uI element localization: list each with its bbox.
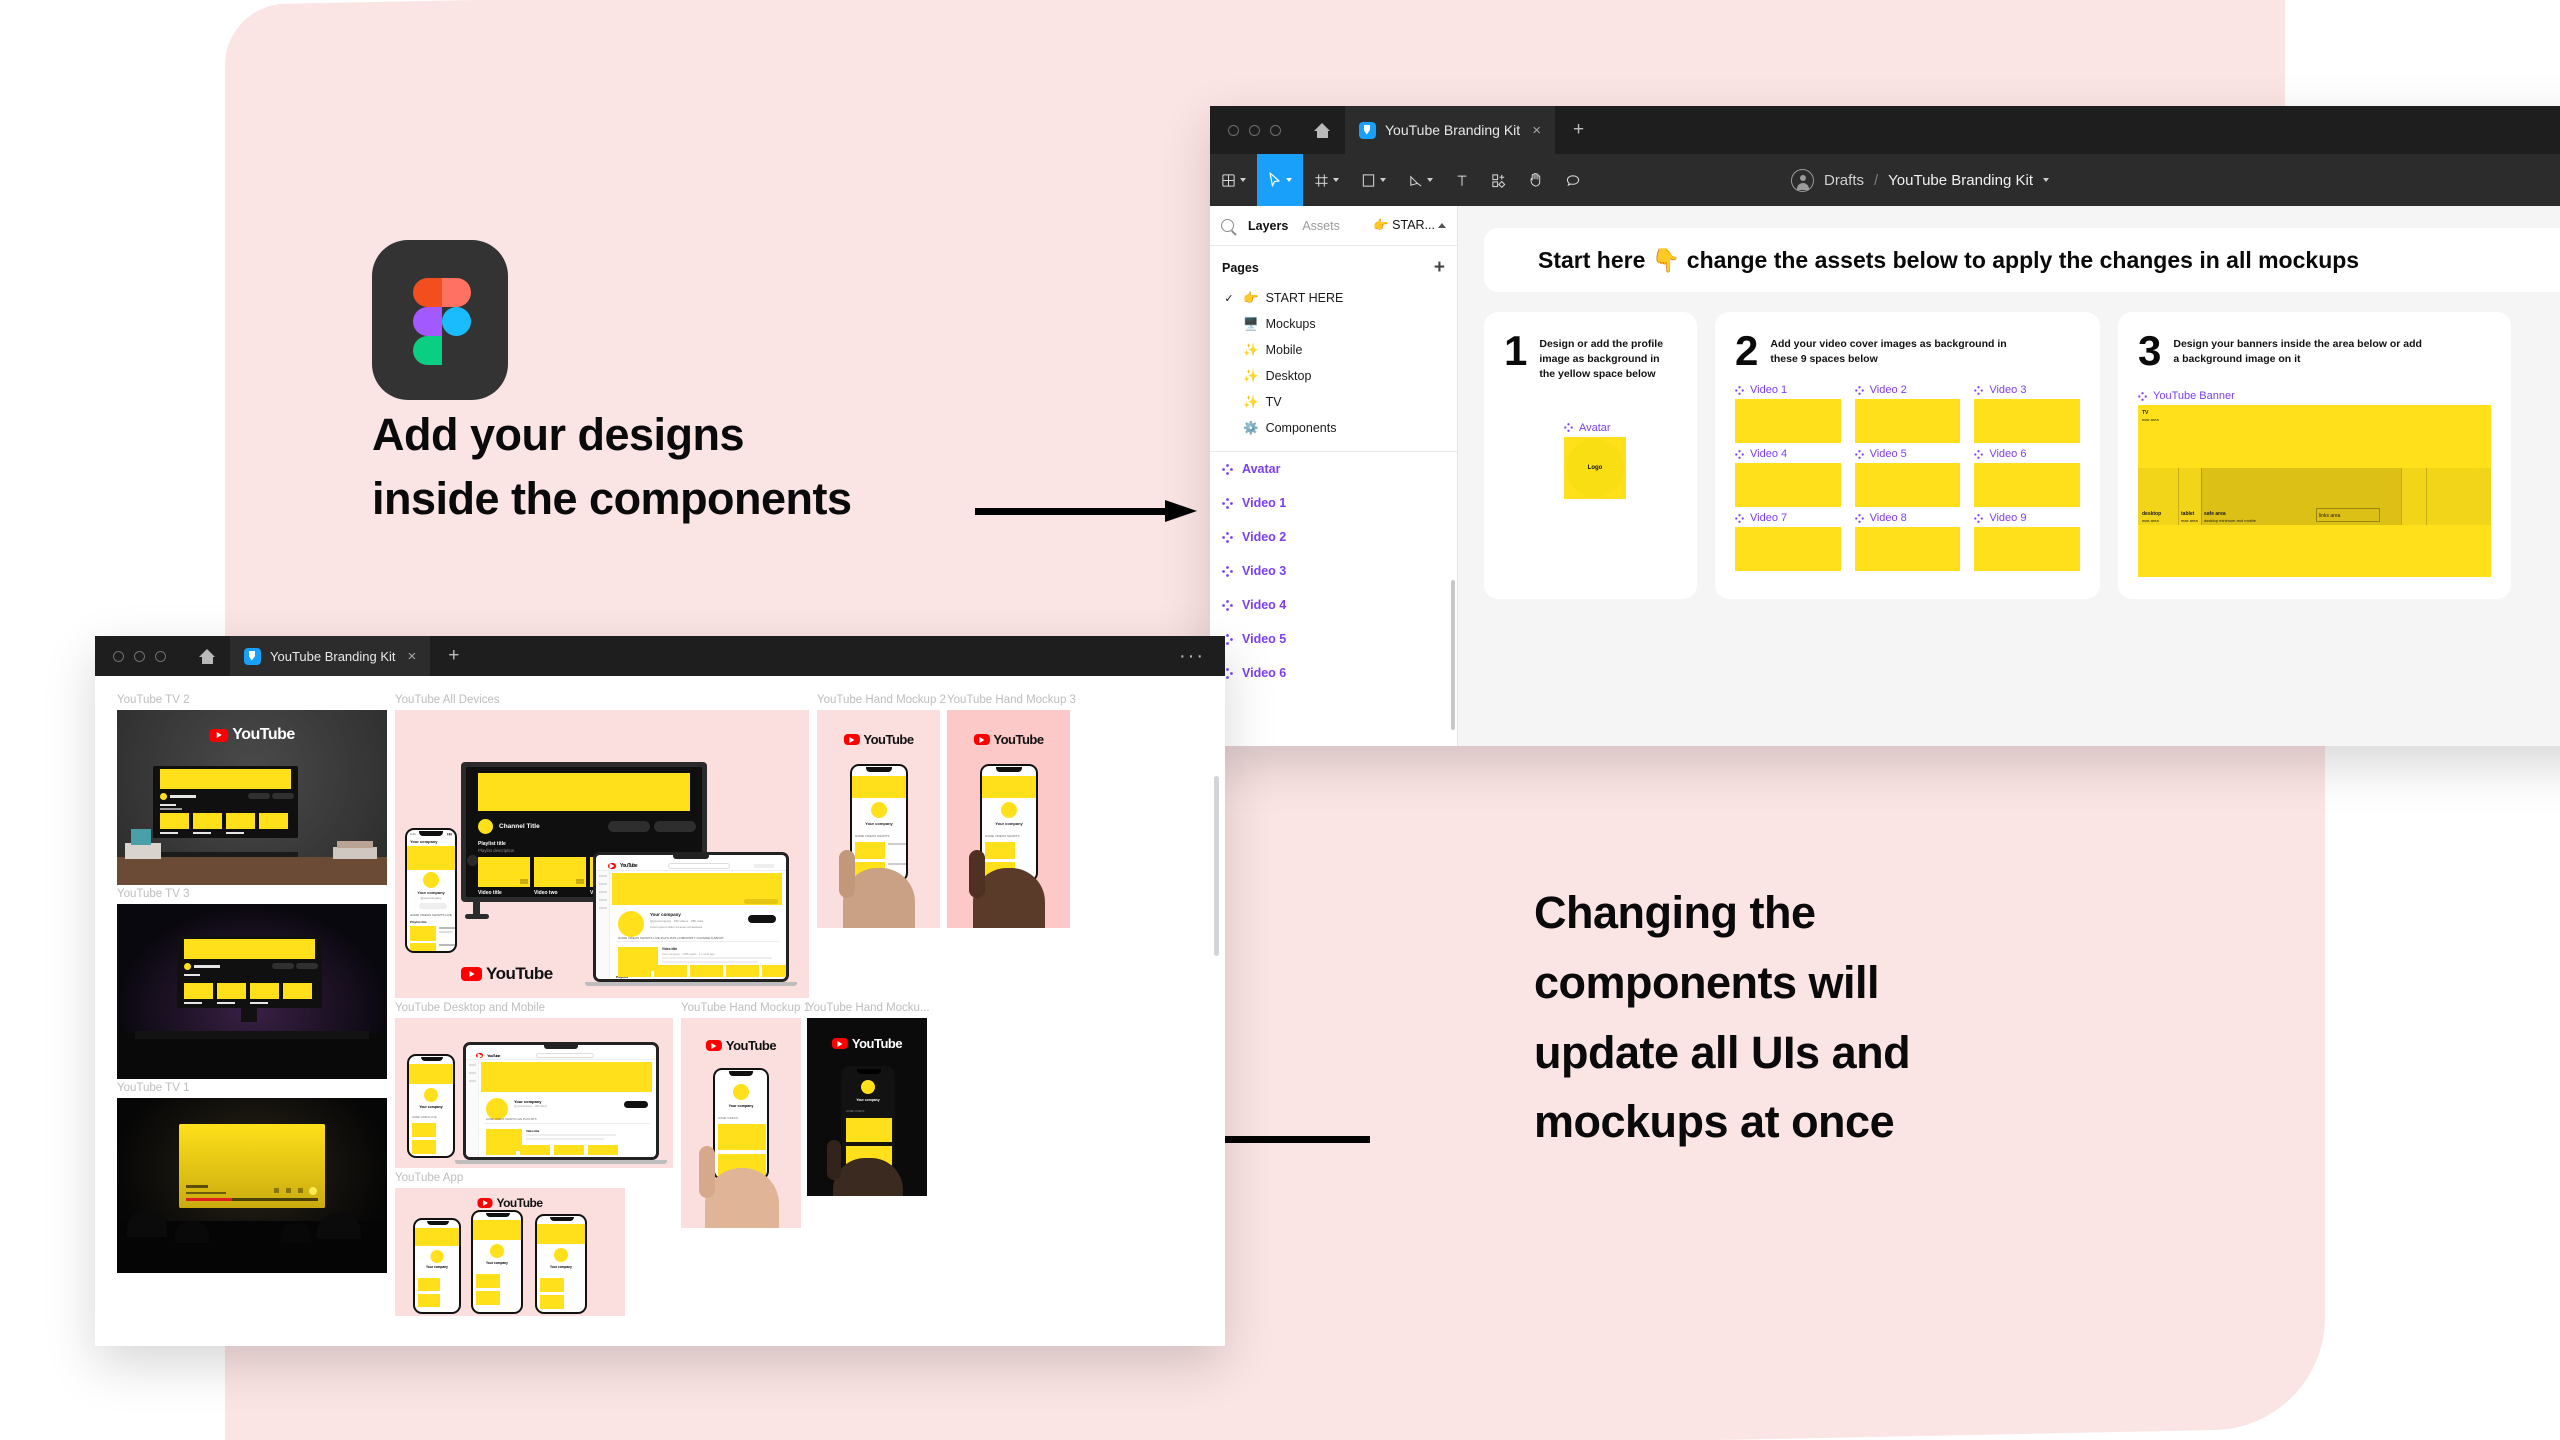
region-sub: max area bbox=[2142, 417, 2159, 422]
card-step-2: 2 Add your video cover images as backgro… bbox=[1715, 312, 2100, 599]
chevron-down-icon bbox=[1427, 178, 1433, 182]
frame-label-youtube-desktop-and-mobile: YouTube Desktop and Mobile bbox=[395, 1002, 545, 1014]
youtube-play-icon bbox=[832, 1038, 848, 1049]
banner-guide bbox=[2426, 468, 2427, 525]
banner-guide bbox=[2178, 468, 2179, 525]
page-label: TV bbox=[1266, 395, 1282, 409]
component-icon bbox=[1564, 423, 1573, 432]
video-label-text: Video 6 bbox=[1989, 448, 2026, 460]
mockups-window: YouTube Branding Kit × + ··· YouTube TV … bbox=[95, 636, 1225, 1346]
layer-label: Avatar bbox=[1242, 462, 1280, 476]
region-sub: max area bbox=[2181, 518, 2198, 523]
headline-right-line-1: Changing the bbox=[1534, 878, 2054, 948]
pages-title: Pages bbox=[1222, 261, 1259, 275]
frame-label-youtube-all-devices: YouTube All Devices bbox=[395, 694, 500, 706]
banner-label-text: YouTube Banner bbox=[2153, 390, 2235, 402]
youtube-word: YouTube bbox=[726, 1038, 776, 1053]
youtube-word: YouTube bbox=[852, 1036, 902, 1051]
component-icon bbox=[1735, 514, 1744, 523]
layer-label: Video 3 bbox=[1242, 564, 1286, 578]
tv-video-title-2: Video two bbox=[534, 890, 558, 896]
youtube-play-icon bbox=[706, 1040, 722, 1051]
youtube-wordmark: YouTube bbox=[973, 732, 1043, 747]
page-item-mobile[interactable]: ✨ Mobile bbox=[1210, 337, 1457, 363]
video-label-text: Video 3 bbox=[1989, 384, 2026, 396]
component-icon bbox=[1974, 514, 1983, 523]
region-title: safe area bbox=[2204, 511, 2226, 517]
component-icon bbox=[1735, 450, 1744, 459]
page-emoji: 🖥️ bbox=[1243, 317, 1259, 332]
close-tab-icon[interactable]: × bbox=[408, 649, 417, 664]
desktop-channel-name: Your company bbox=[650, 912, 681, 917]
components-icon bbox=[1491, 173, 1506, 188]
window-controls[interactable] bbox=[95, 636, 184, 676]
youtube-word: YouTube bbox=[993, 732, 1043, 747]
figma-body: Layers Assets 👉 STAR... Pages + ✓ 👉 bbox=[1210, 206, 2560, 746]
youtube-word: YouTube bbox=[486, 964, 553, 984]
new-tab-button[interactable]: + bbox=[430, 636, 477, 676]
youtube-wordmark-small: YouTube bbox=[608, 863, 637, 869]
video-label: Video 2 bbox=[1855, 384, 1961, 396]
frame-youtube-tv-2[interactable]: YouTube bbox=[117, 710, 387, 885]
frame-youtube-all-devices[interactable]: Channel Title Playlist title Playlist de… bbox=[395, 710, 809, 998]
window-controls[interactable] bbox=[1210, 106, 1299, 154]
youtube-banner-placeholder[interactable]: TV max area desktop max area tablet max … bbox=[2138, 405, 2491, 577]
video-slots-grid: Video 1 Video 2 bbox=[1735, 384, 2080, 571]
text-tool-button[interactable] bbox=[1444, 154, 1480, 206]
page-item-desktop[interactable]: ✨ Desktop bbox=[1210, 363, 1457, 389]
layers-list[interactable]: Avatar Video 1 Video 2 Video 3 bbox=[1210, 452, 1457, 746]
video-label: Video 8 bbox=[1855, 512, 1961, 524]
video-placeholder[interactable] bbox=[1735, 399, 1841, 443]
youtube-word: YouTube bbox=[863, 732, 913, 747]
tv-screen bbox=[153, 766, 298, 838]
close-window-button[interactable] bbox=[1228, 125, 1239, 136]
tab-assets[interactable]: Assets bbox=[1302, 219, 1340, 233]
video-placeholder[interactable] bbox=[1855, 527, 1961, 571]
headline-right-line-3: update all UIs and bbox=[1534, 1018, 2054, 1088]
layer-label: Video 1 bbox=[1242, 496, 1286, 510]
headline-left: Add your designs inside the components bbox=[372, 412, 992, 540]
youtube-word: YouTube bbox=[496, 1196, 542, 1210]
component-icon bbox=[1222, 532, 1233, 543]
video-label-text: Video 5 bbox=[1870, 448, 1907, 460]
page-label: Desktop bbox=[1266, 369, 1312, 383]
shape-tool-button[interactable] bbox=[1350, 154, 1397, 206]
video-placeholder[interactable] bbox=[1735, 527, 1841, 571]
phone-mockup: 9:41 ▮▮▮ Your company Your company @your… bbox=[405, 828, 457, 953]
current-page-label: 👉 STAR... bbox=[1373, 218, 1435, 233]
video-slot-1[interactable]: Video 1 bbox=[1735, 384, 1841, 443]
component-icon bbox=[1222, 566, 1233, 577]
chevron-down-icon[interactable] bbox=[2043, 178, 2049, 182]
component-icon bbox=[1974, 386, 1983, 395]
video-slot-7[interactable]: Video 7 bbox=[1735, 512, 1841, 571]
comment-icon bbox=[1565, 173, 1581, 188]
frame-icon bbox=[1314, 173, 1329, 188]
tab-layers[interactable]: Layers bbox=[1248, 219, 1288, 233]
mockups-canvas[interactable]: YouTube TV 2 YouTube bbox=[95, 676, 1225, 1346]
avatar[interactable] bbox=[1791, 169, 1814, 192]
move-tool-button[interactable] bbox=[1257, 154, 1303, 206]
region-title: desktop bbox=[2142, 511, 2161, 517]
video-slot-9[interactable]: Video 9 bbox=[1974, 512, 2080, 571]
figma-window: YouTube Branding Kit × + bbox=[1210, 106, 2560, 746]
card-description: Add your video cover images as backgroun… bbox=[1770, 334, 2025, 367]
headline-right-line-4: mockups at once bbox=[1534, 1087, 2054, 1157]
browser-tab[interactable]: YouTube Branding Kit × bbox=[1345, 106, 1555, 154]
figma-logo-icon bbox=[372, 240, 508, 400]
figma-toolbar: Drafts / YouTube Branding Kit bbox=[1210, 154, 2560, 206]
frame-label-youtube-tv-2: YouTube TV 2 bbox=[117, 694, 189, 706]
tab-label: YouTube Branding Kit bbox=[270, 649, 396, 664]
frame-youtube-hand-mockup-2[interactable]: YouTube Your company HOME VIDEOS SHORTS bbox=[817, 710, 940, 928]
phone-mockup: Your company bbox=[413, 1218, 461, 1314]
close-tab-icon[interactable]: × bbox=[1532, 123, 1541, 138]
card-step-1: 1 Design or add the profile image as bac… bbox=[1484, 312, 1697, 599]
figma-canvas[interactable]: Start here 👇 change the assets below to … bbox=[1458, 206, 2560, 746]
page-label: Components bbox=[1266, 421, 1337, 435]
card-description: Design your banners inside the area belo… bbox=[2173, 334, 2423, 367]
avatar-label-text: Avatar bbox=[1579, 422, 1611, 434]
figma-menu-icon bbox=[1221, 173, 1236, 188]
figma-titlebar: YouTube Branding Kit × + bbox=[1210, 106, 2560, 154]
card-description: Design or add the profile image as backg… bbox=[1539, 334, 1677, 382]
mockups-titlebar: YouTube Branding Kit × + ··· bbox=[95, 636, 1225, 676]
card-step-3: 3 Design your banners inside the area be… bbox=[2118, 312, 2511, 599]
headline-left-line-2: inside the components bbox=[372, 476, 992, 522]
frame-youtube-hand-mockup-1[interactable]: YouTube Your company HOME VIDEOS bbox=[681, 1018, 801, 1228]
banner-guide bbox=[2401, 468, 2402, 525]
page-item-components[interactable]: ⚙️ Components bbox=[1210, 415, 1457, 441]
video-slot-2[interactable]: Video 2 bbox=[1855, 384, 1961, 443]
instruction-cards: 1 Design or add the profile image as bac… bbox=[1484, 312, 2560, 599]
headline-left-line-1: Add your designs bbox=[372, 412, 992, 458]
phone-mockup: Your company bbox=[535, 1214, 587, 1314]
headline-right-line-2: components will bbox=[1534, 948, 2054, 1018]
layer-label: Video 2 bbox=[1242, 530, 1286, 544]
youtube-play-icon bbox=[973, 734, 989, 745]
avatar-component-label: Avatar bbox=[1564, 422, 1626, 434]
frame-tool-button[interactable] bbox=[1303, 154, 1350, 206]
search-icon[interactable] bbox=[1221, 219, 1234, 232]
frame-youtube-hand-mockup-4[interactable]: YouTube Your company HOME VIDEOS bbox=[807, 1018, 927, 1196]
hand-tool-button[interactable] bbox=[1517, 154, 1554, 206]
card-header: 1 Design or add the profile image as bac… bbox=[1504, 334, 1677, 382]
breadcrumb-file[interactable]: YouTube Branding Kit bbox=[1888, 172, 2033, 189]
video-label-text: Video 7 bbox=[1750, 512, 1787, 524]
home-icon bbox=[1314, 123, 1331, 138]
video-label: Video 5 bbox=[1855, 448, 1961, 460]
video-placeholder[interactable] bbox=[1735, 463, 1841, 507]
youtube-wordmark: YouTube bbox=[461, 964, 553, 984]
page-emoji: ✨ bbox=[1243, 369, 1259, 384]
youtube-play-icon bbox=[477, 1198, 492, 1208]
minimize-window-button[interactable] bbox=[1249, 125, 1260, 136]
page-emoji: ⚙️ bbox=[1243, 421, 1259, 436]
component-icon bbox=[1855, 386, 1864, 395]
banner-region-tablet: tablet max area bbox=[2181, 511, 2198, 522]
avatar-component-slot[interactable]: Avatar Logo bbox=[1504, 422, 1677, 499]
page-label: Mobile bbox=[1266, 343, 1303, 357]
breadcrumb: Drafts / YouTube Branding Kit bbox=[1791, 169, 2049, 192]
video-label-text: Video 8 bbox=[1870, 512, 1907, 524]
video-slot-4[interactable]: Video 4 bbox=[1735, 448, 1841, 507]
component-icon bbox=[2138, 392, 2147, 401]
card-number: 3 bbox=[2138, 334, 2161, 368]
avatar-logo-text: Logo bbox=[1588, 465, 1603, 471]
youtube-wordmark: YouTube bbox=[209, 726, 295, 744]
tv-playlist-desc: Playlist description bbox=[478, 848, 514, 853]
video-label: Video 9 bbox=[1974, 512, 2080, 524]
video-label: Video 6 bbox=[1974, 448, 2080, 460]
tab-label: YouTube Branding Kit bbox=[1385, 122, 1520, 138]
page-item-tv[interactable]: ✨ TV bbox=[1210, 389, 1457, 415]
phone-mockup: Your company HOME VIDEOS bbox=[841, 1066, 895, 1170]
home-button[interactable] bbox=[1299, 106, 1345, 154]
region-sub: desktop minimum and mobile bbox=[2204, 518, 2256, 523]
start-here-banner: Start here 👇 change the assets below to … bbox=[1484, 228, 2560, 292]
video-slot-5[interactable]: Video 5 bbox=[1855, 448, 1961, 507]
add-page-button[interactable]: + bbox=[1434, 258, 1445, 277]
browser-tab[interactable]: YouTube Branding Kit × bbox=[230, 636, 430, 676]
video-placeholder[interactable] bbox=[1974, 399, 2080, 443]
video-label-text: Video 4 bbox=[1750, 448, 1787, 460]
frame-label-youtube-hand-mockup-2: YouTube Hand Mockup 2 bbox=[817, 694, 946, 706]
card-number: 2 bbox=[1735, 334, 1758, 368]
frame-youtube-desktop-and-mobile[interactable]: Your company HOME VIDEOS LIVE YouTube bbox=[395, 1018, 673, 1168]
region-title: links area bbox=[2319, 513, 2340, 519]
comment-tool-button[interactable] bbox=[1554, 154, 1592, 206]
page-item-mockups[interactable]: 🖥️ Mockups bbox=[1210, 311, 1457, 337]
tv-video-title-1: Video title bbox=[478, 890, 502, 896]
phone-mockup: Your company HOME VIDEOS bbox=[713, 1068, 769, 1180]
rectangle-icon bbox=[1361, 173, 1376, 188]
frame-label-youtube-hand-mockup-3: YouTube Hand Mockup 3 bbox=[947, 694, 1076, 706]
video-placeholder[interactable] bbox=[1855, 463, 1961, 507]
video-label: Video 7 bbox=[1735, 512, 1841, 524]
banner-region-desktop: desktop max area bbox=[2142, 511, 2161, 522]
banner-guide bbox=[2201, 468, 2202, 525]
component-icon bbox=[1855, 450, 1864, 459]
phone-mockup: Your company HOME VIDEOS SHORTS bbox=[850, 764, 908, 882]
pages-list: ✓ 👉 START HERE 🖥️ Mockups ✨ Mobile bbox=[1210, 285, 1457, 441]
card-header: 2 Add your video cover images as backgro… bbox=[1735, 334, 2080, 368]
frame-youtube-tv-3[interactable] bbox=[117, 904, 387, 1079]
card-header: 3 Design your banners inside the area be… bbox=[2138, 334, 2491, 368]
layer-label: Video 5 bbox=[1242, 632, 1286, 646]
component-icon bbox=[1974, 450, 1983, 459]
video-label: Video 3 bbox=[1974, 384, 2080, 396]
video-label-text: Video 9 bbox=[1989, 512, 2026, 524]
pages-header: Pages + bbox=[1210, 246, 1457, 285]
youtube-play-icon bbox=[843, 734, 859, 745]
tv-playlist-title: Playlist title bbox=[478, 841, 506, 847]
laptop-mockup: YouTube Your company @yourcompany · 180 … bbox=[463, 1042, 659, 1160]
layer-item-video-2[interactable]: Video 2 bbox=[1210, 520, 1457, 554]
new-tab-button[interactable]: + bbox=[1555, 106, 1602, 154]
breadcrumb-project[interactable]: Drafts bbox=[1824, 172, 1864, 189]
youtube-play-icon bbox=[209, 729, 228, 742]
close-window-button[interactable] bbox=[113, 651, 124, 662]
figma-favicon-icon bbox=[1359, 122, 1376, 139]
page-label: START HERE bbox=[1266, 291, 1344, 305]
screenshot-stage: Add your designs inside the components C… bbox=[0, 0, 2560, 1440]
arrow-right-icon bbox=[975, 500, 1205, 522]
frame-label-youtube-app: YouTube App bbox=[395, 1172, 463, 1184]
banner-component-label: YouTube Banner bbox=[2138, 390, 2491, 402]
youtube-wordmark: YouTube bbox=[706, 1038, 776, 1053]
overflow-menu-button[interactable]: ··· bbox=[1159, 636, 1225, 676]
frame-label-youtube-tv-1: YouTube TV 1 bbox=[117, 1082, 189, 1094]
pen-tool-button[interactable] bbox=[1397, 154, 1444, 206]
pen-icon bbox=[1408, 173, 1423, 188]
video-placeholder[interactable] bbox=[1974, 463, 2080, 507]
avatar-placeholder[interactable]: Logo bbox=[1564, 437, 1626, 499]
region-sub: max area bbox=[2142, 518, 2161, 523]
component-icon bbox=[1855, 514, 1864, 523]
banner-region-links: links area bbox=[2319, 513, 2340, 519]
check-icon: ✓ bbox=[1222, 292, 1236, 305]
minimize-window-button[interactable] bbox=[134, 651, 145, 662]
banner-region-tv: TV max area bbox=[2142, 410, 2159, 421]
video-slot-6[interactable]: Video 6 bbox=[1974, 448, 2080, 507]
youtube-wordmark: YouTube bbox=[832, 1036, 902, 1051]
layer-item-video-4[interactable]: Video 4 bbox=[1210, 588, 1457, 622]
layers-panel-tabs: Layers Assets 👉 STAR... bbox=[1210, 206, 1457, 246]
home-button[interactable] bbox=[184, 636, 230, 676]
frame-youtube-hand-mockup-3[interactable]: YouTube Your company HOME VIDEOS SHORTS bbox=[947, 710, 1070, 928]
youtube-wordmark: YouTube bbox=[843, 732, 913, 747]
chevron-down-icon bbox=[1380, 178, 1386, 182]
component-icon bbox=[1222, 498, 1233, 509]
youtube-wordmark: YouTube bbox=[477, 1196, 542, 1210]
phone-mockup: Your company bbox=[471, 1210, 523, 1314]
component-icon bbox=[1222, 464, 1233, 475]
layer-item-avatar[interactable]: Avatar bbox=[1210, 452, 1457, 486]
banner-region-safe: safe area desktop minimum and mobile bbox=[2204, 511, 2256, 522]
youtube-word: YouTube bbox=[232, 726, 295, 744]
chevron-up-icon bbox=[1438, 223, 1446, 228]
frame-youtube-tv-1[interactable] bbox=[117, 1098, 387, 1273]
start-here-text: Start here 👇 change the assets below to … bbox=[1538, 247, 2359, 274]
video-placeholder[interactable] bbox=[1974, 527, 2080, 571]
laptop-mockup: YouTube Your company bbox=[593, 852, 789, 982]
youtube-play-icon bbox=[461, 967, 482, 981]
layer-item-video-3[interactable]: Video 3 bbox=[1210, 554, 1457, 588]
frame-label-youtube-hand-mockup-1: YouTube Hand Mockup 1 bbox=[681, 1002, 810, 1014]
banner-component-slot[interactable]: YouTube Banner T bbox=[2138, 390, 2491, 577]
chevron-down-icon bbox=[1286, 178, 1292, 182]
page-emoji: 👉 bbox=[1243, 291, 1259, 306]
video-label-text: Video 1 bbox=[1750, 384, 1787, 396]
phone-mockup: Your company HOME VIDEOS SHORTS bbox=[980, 764, 1038, 882]
figma-favicon-icon bbox=[244, 648, 261, 665]
home-icon bbox=[199, 649, 216, 664]
text-icon bbox=[1455, 173, 1469, 188]
page-emoji: ✨ bbox=[1243, 343, 1259, 358]
video-label-text: Video 2 bbox=[1870, 384, 1907, 396]
card-number: 1 bbox=[1504, 334, 1527, 368]
layer-item-video-6[interactable]: Video 6 bbox=[1210, 656, 1457, 690]
frame-label-youtube-hand-mockup-4: YouTube Hand Mocku... bbox=[807, 1002, 930, 1014]
frame-youtube-app[interactable]: YouTube Your company bbox=[395, 1188, 625, 1316]
region-title: tablet bbox=[2181, 511, 2194, 517]
headline-right: Changing the components will update all … bbox=[1534, 878, 2054, 1157]
region-title: TV bbox=[2142, 410, 2148, 416]
chevron-down-icon bbox=[1240, 178, 1246, 182]
phone-mockup: Your company HOME VIDEOS LIVE bbox=[407, 1054, 455, 1158]
cursor-icon bbox=[1268, 172, 1282, 188]
breadcrumb-separator: / bbox=[1874, 172, 1878, 189]
resources-tool-button[interactable] bbox=[1480, 154, 1517, 206]
layer-item-video-1[interactable]: Video 1 bbox=[1210, 486, 1457, 520]
frame-label-youtube-tv-3: YouTube TV 3 bbox=[117, 888, 189, 900]
component-icon bbox=[1222, 600, 1233, 611]
figma-menu-button[interactable] bbox=[1210, 154, 1257, 206]
maximize-window-button[interactable] bbox=[1270, 125, 1281, 136]
video-slot-8[interactable]: Video 8 bbox=[1855, 512, 1961, 571]
video-label: Video 4 bbox=[1735, 448, 1841, 460]
video-slot-3[interactable]: Video 3 bbox=[1974, 384, 2080, 443]
maximize-window-button[interactable] bbox=[155, 651, 166, 662]
hand-icon bbox=[1528, 172, 1543, 188]
page-label: Mockups bbox=[1266, 317, 1316, 331]
video-placeholder[interactable] bbox=[1855, 399, 1961, 443]
tv-channel-title: Channel Title bbox=[499, 823, 540, 830]
component-icon bbox=[1735, 386, 1744, 395]
video-label: Video 1 bbox=[1735, 384, 1841, 396]
page-emoji: ✨ bbox=[1243, 395, 1259, 410]
chevron-down-icon bbox=[1333, 178, 1339, 182]
page-item-start-here[interactable]: ✓ 👉 START HERE bbox=[1210, 285, 1457, 311]
layer-label: Video 4 bbox=[1242, 598, 1286, 612]
current-page-chip[interactable]: 👉 STAR... bbox=[1373, 218, 1446, 233]
layers-panel: Layers Assets 👉 STAR... Pages + ✓ 👉 bbox=[1210, 206, 1458, 746]
layer-item-video-5[interactable]: Video 5 bbox=[1210, 622, 1457, 656]
layer-label: Video 6 bbox=[1242, 666, 1286, 680]
canvas-scrollbar[interactable] bbox=[1214, 776, 1219, 956]
layers-scrollbar[interactable] bbox=[1451, 580, 1455, 730]
